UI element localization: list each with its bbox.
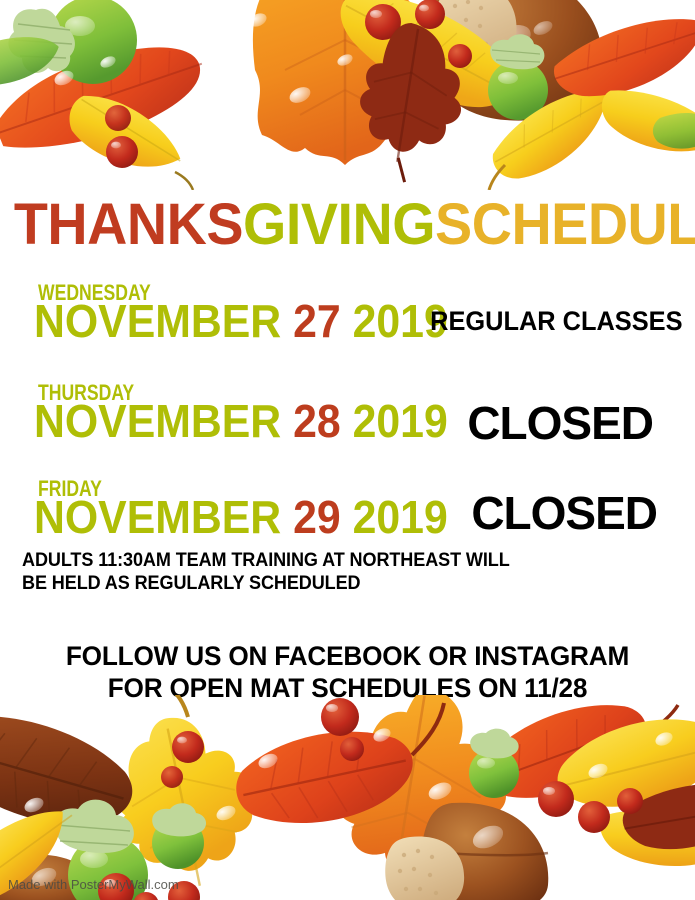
status-text: CLOSED [471,490,657,536]
title-part-schedule: SCHEDULE [435,192,695,257]
watermark-text: Made with PosterMyWall.com [8,877,179,892]
follow-line-2: FOR OPEN MAT SCHEDULES ON 11/28 [10,673,684,705]
follow-line-1: FOLLOW US ON FACEBOOK OR INSTAGRAM [10,641,684,673]
year-label: 2019 [353,491,448,543]
month-label: NOVEMBER [34,295,281,347]
autumn-leaves-border-bottom [0,695,695,900]
date-line: NOVEMBER 27 2019 [34,298,448,344]
follow-message: FOLLOW US ON FACEBOOK OR INSTAGRAM FOR O… [10,641,684,705]
date-line: NOVEMBER 29 2019 [34,494,448,540]
status-text: CLOSED [467,400,653,446]
day-number: 28 [293,395,341,447]
poster-canvas: THANKSGIVINGSCHEDULE WEDNESDAY NOVEMBER … [0,0,695,900]
month-label: NOVEMBER [34,491,281,543]
date-line: NOVEMBER 28 2019 [34,398,448,444]
month-label: NOVEMBER [34,395,281,447]
fine-print-line-1: ADULTS 11:30AM TEAM TRAINING AT NORTHEAS… [22,549,592,572]
day-number: 27 [293,295,341,347]
page-title: THANKSGIVINGSCHEDULE [14,196,681,254]
status-text: REGULAR CLASSES [431,308,683,335]
title-part-giving: GIVING [243,192,435,257]
day-number: 29 [293,491,341,543]
schedule-row: THURSDAY NOVEMBER 28 2019 CLOSED [0,382,695,462]
autumn-leaves-border-top [0,0,695,190]
schedule-row: FRIDAY NOVEMBER 29 2019 CLOSED [0,478,695,558]
fine-print-note: ADULTS 11:30AM TEAM TRAINING AT NORTHEAS… [22,549,592,595]
title-part-thanks: THANKS [14,192,243,257]
schedule-row: WEDNESDAY NOVEMBER 27 2019 REGULAR CLASS… [0,282,695,362]
fine-print-line-2: BE HELD AS REGULARLY SCHEDULED [22,572,592,595]
year-label: 2019 [353,395,448,447]
